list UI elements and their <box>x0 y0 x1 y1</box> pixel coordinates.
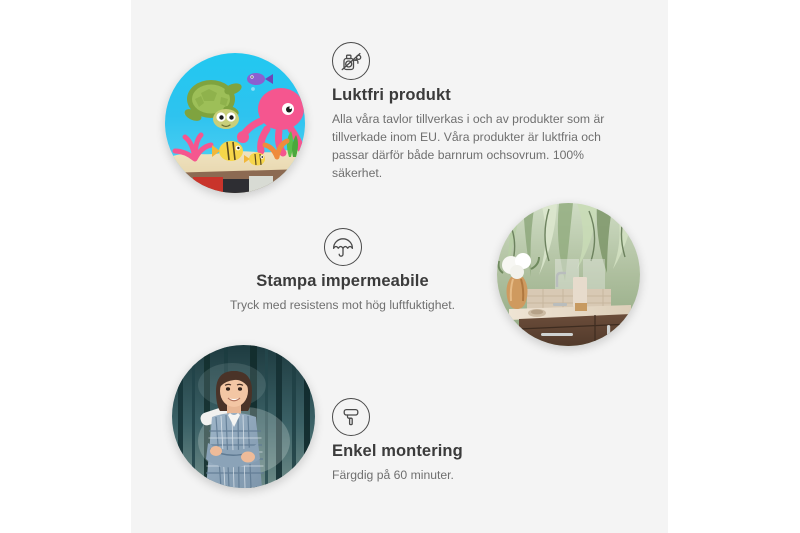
woman-paint-roller-forest-photo <box>172 345 315 488</box>
feature-title: Stampa impermeabile <box>200 272 485 292</box>
tile-backsplash <box>527 289 611 309</box>
feature-block-easy-installation: Enkel montering Färgdig på 60 minuter. <box>332 398 612 484</box>
feature-title: Enkel montering <box>332 442 612 462</box>
feature-title: Luktfri produkt <box>332 86 624 106</box>
feature-body: Alla våra tavlor tillverkas i och av pro… <box>332 110 624 182</box>
feature-block-waterproof-print: Stampa impermeabile Tryck med resistens … <box>200 228 485 314</box>
bathroom-illustration <box>497 203 640 346</box>
feature-block-odour-free: Luktfri produkt Alla våra tavlor tillver… <box>332 42 624 182</box>
icon-row <box>200 228 485 266</box>
infographic-stage: Luktfri produkt Alla våra tavlor tillver… <box>0 0 800 533</box>
icon-row <box>332 42 624 80</box>
umbrella-icon <box>324 228 362 266</box>
feature-body: Färgdig på 60 minuter. <box>332 466 612 484</box>
underwater-illustration <box>165 53 305 193</box>
paint-roller-icon <box>332 398 370 436</box>
feature-body: Tryck med resistens mot hög luftfuktighe… <box>200 296 485 314</box>
no-odour-perfume-icon <box>332 42 370 80</box>
underwater-sea-turtle-octopus-photo <box>165 53 305 193</box>
icon-row <box>332 398 612 436</box>
bathroom-botanical-wallpaper-photo <box>497 203 640 346</box>
painter-illustration <box>172 345 315 488</box>
